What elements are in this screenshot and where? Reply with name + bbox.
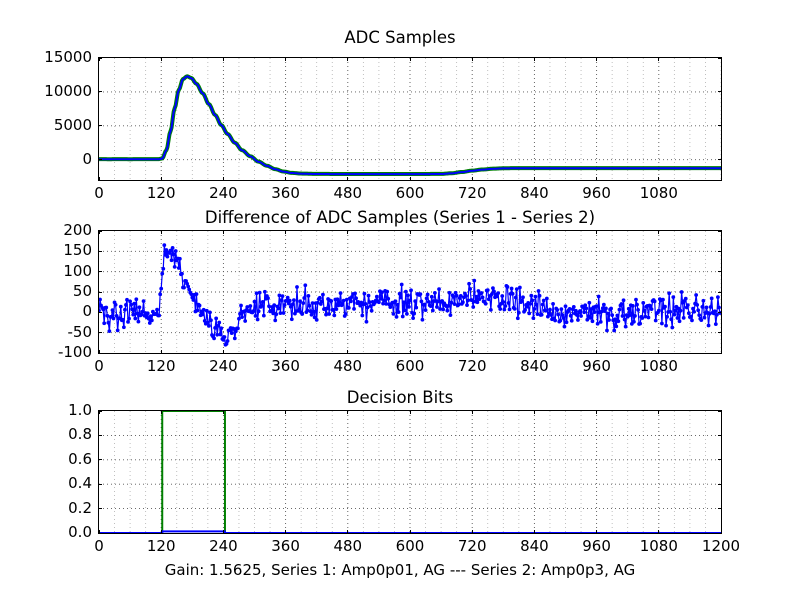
y-tick-label: 1.0	[68, 403, 92, 418]
x-tick-mark	[285, 350, 286, 354]
y-tick-mark	[98, 292, 102, 293]
x-tick-mark	[410, 530, 411, 534]
minor-gridlines	[115, 231, 721, 353]
x-tick-mark-top	[161, 57, 162, 61]
x-tick-mark	[658, 350, 659, 354]
y-tick-label: 50	[73, 284, 92, 299]
major-gridlines	[99, 411, 721, 533]
x-tick-mark-top	[223, 230, 224, 234]
y-tick-mark-right	[718, 484, 722, 485]
x-tick-mark-top	[410, 57, 411, 61]
y-tick-mark-right	[718, 251, 722, 252]
y-tick-mark	[98, 91, 102, 92]
minor-gridlines	[115, 58, 721, 180]
y-tick-mark	[98, 58, 102, 59]
x-tick-mark	[347, 530, 348, 534]
x-tick-mark	[472, 177, 473, 181]
minor-gridlines	[115, 411, 706, 533]
y-tick-label: 0.6	[68, 452, 92, 467]
y-tick-mark	[98, 435, 102, 436]
y-tick-mark-right	[718, 58, 722, 59]
x-tick-mark	[99, 177, 100, 181]
y-tick-mark-right	[718, 125, 722, 126]
x-tick-mark-top	[534, 410, 535, 414]
x-tick-mark-top	[285, 230, 286, 234]
plot-canvas	[99, 231, 721, 353]
y-tick-mark	[98, 484, 102, 485]
x-tick-mark	[161, 350, 162, 354]
x-tick-mark	[534, 177, 535, 181]
subplot-2-title: Difference of ADC Samples (Series 1 - Se…	[0, 208, 800, 227]
y-tick-mark-right	[718, 231, 722, 232]
x-tick-mark-top	[658, 410, 659, 414]
y-tick-label: 5000	[54, 118, 92, 133]
x-tick-mark-top	[285, 57, 286, 61]
x-tick-mark	[472, 530, 473, 534]
y-tick-mark	[98, 125, 102, 126]
x-tick-mark-top	[285, 410, 286, 414]
y-tick-mark	[98, 508, 102, 509]
y-tick-mark-right	[718, 411, 722, 412]
y-tick-label: 0.4	[68, 476, 92, 491]
x-tick-mark	[161, 177, 162, 181]
x-tick-mark-top	[223, 410, 224, 414]
x-tick-label: 1080	[619, 186, 699, 201]
x-tick-mark-top	[472, 57, 473, 61]
subplot-2-axes	[98, 230, 722, 354]
x-tick-mark	[161, 530, 162, 534]
x-tick-mark-top	[534, 57, 535, 61]
y-tick-mark-right	[718, 459, 722, 460]
y-tick-label: -100	[58, 345, 92, 360]
y-tick-mark-right	[718, 159, 722, 160]
x-tick-mark	[285, 530, 286, 534]
y-tick-mark	[98, 231, 102, 232]
x-tick-mark-top	[596, 57, 597, 61]
x-tick-mark-top	[410, 230, 411, 234]
y-tick-mark	[98, 312, 102, 313]
x-tick-mark	[658, 177, 659, 181]
y-tick-mark	[98, 459, 102, 460]
matplotlib-figure: ADC Samples 0120240360480600720840960108…	[0, 0, 800, 600]
x-tick-mark-top	[596, 230, 597, 234]
y-tick-mark-right	[718, 332, 722, 333]
y-tick-mark	[98, 332, 102, 333]
y-tick-mark-right	[718, 271, 722, 272]
y-tick-label: 100	[63, 264, 92, 279]
y-tick-mark	[98, 251, 102, 252]
y-tick-mark-right	[718, 312, 722, 313]
plot-canvas	[99, 58, 721, 180]
y-tick-label: 10000	[44, 84, 92, 99]
y-tick-mark-right	[718, 292, 722, 293]
x-tick-mark-top	[161, 410, 162, 414]
x-tick-mark	[596, 350, 597, 354]
x-tick-mark-top	[596, 410, 597, 414]
y-tick-mark-right	[718, 353, 722, 354]
x-tick-mark-top	[347, 410, 348, 414]
y-tick-mark	[98, 271, 102, 272]
x-tick-mark-top	[658, 230, 659, 234]
y-tick-label: 0.8	[68, 427, 92, 442]
x-tick-mark	[658, 530, 659, 534]
x-tick-mark	[223, 177, 224, 181]
subplot-difference: Difference of ADC Samples (Series 1 - Se…	[0, 202, 800, 382]
subplot-decision-bits: Decision Bits 01202403604806007208409601…	[0, 382, 800, 582]
plot-canvas	[99, 411, 721, 533]
x-tick-mark-top	[472, 410, 473, 414]
x-tick-mark	[534, 530, 535, 534]
figure-xlabel: Gain: 1.5625, Series 1: Amp0p01, AG --- …	[0, 561, 800, 579]
x-tick-label: 1200	[681, 539, 761, 554]
y-tick-label: -50	[68, 325, 93, 340]
major-gridlines	[99, 231, 721, 353]
subplot-3-title: Decision Bits	[0, 388, 800, 407]
y-tick-label: 0	[82, 152, 92, 167]
y-tick-mark	[98, 533, 102, 534]
subplot-1-title: ADC Samples	[0, 28, 800, 47]
x-tick-mark	[410, 177, 411, 181]
y-tick-mark-right	[718, 91, 722, 92]
y-tick-mark	[98, 353, 102, 354]
x-tick-mark	[347, 350, 348, 354]
x-tick-label: 1080	[619, 359, 699, 374]
x-tick-mark-top	[223, 57, 224, 61]
x-tick-mark	[223, 350, 224, 354]
subplot-adc-samples: ADC Samples 0120240360480600720840960108…	[0, 22, 800, 202]
x-tick-mark	[285, 177, 286, 181]
y-tick-mark-right	[718, 533, 722, 534]
x-tick-mark	[472, 350, 473, 354]
x-tick-mark	[223, 530, 224, 534]
y-tick-mark-right	[718, 435, 722, 436]
data-series	[99, 411, 721, 533]
y-tick-label: 150	[63, 243, 92, 258]
x-tick-mark-top	[161, 230, 162, 234]
y-tick-label: 0.2	[68, 501, 92, 516]
x-tick-mark-top	[658, 57, 659, 61]
x-tick-mark	[410, 350, 411, 354]
x-tick-mark	[596, 177, 597, 181]
x-tick-mark-top	[347, 230, 348, 234]
y-tick-label: 0	[82, 304, 92, 319]
y-tick-mark	[98, 159, 102, 160]
x-tick-mark-top	[347, 57, 348, 61]
x-tick-mark-top	[534, 230, 535, 234]
y-tick-label: 200	[63, 223, 92, 238]
x-tick-mark	[347, 177, 348, 181]
x-tick-mark	[596, 530, 597, 534]
x-tick-mark-top	[410, 410, 411, 414]
x-tick-mark	[534, 350, 535, 354]
subplot-1-axes	[98, 57, 722, 181]
subplot-3-axes	[98, 410, 722, 534]
y-tick-label: 15000	[44, 50, 92, 65]
y-tick-mark-right	[718, 508, 722, 509]
y-tick-label: 0.0	[68, 525, 92, 540]
y-tick-mark	[98, 411, 102, 412]
x-tick-mark-top	[472, 230, 473, 234]
